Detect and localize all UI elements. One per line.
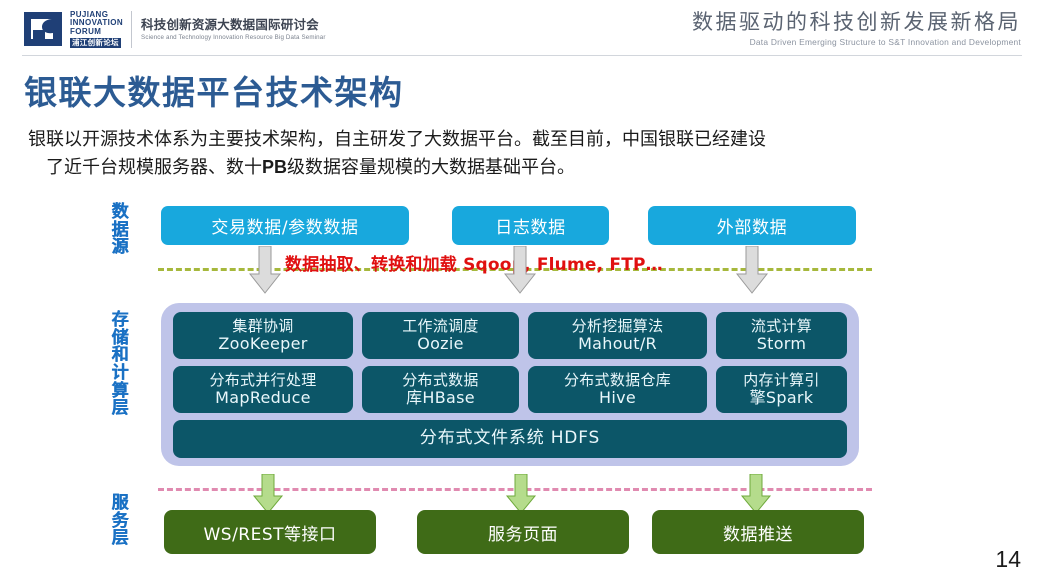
- tech-component-cn: 集群协调: [232, 318, 293, 335]
- tech-component-box[interactable]: 分布式数据仓库 Hive: [528, 366, 707, 413]
- brand-line-3: FORUM: [70, 28, 123, 36]
- service-box[interactable]: WS/REST等接口: [164, 510, 376, 554]
- tech-component-cn: 分布式数据仓库: [564, 372, 671, 389]
- tech-component-en: MapReduce: [215, 389, 311, 407]
- tech-component-en: Hive: [599, 389, 636, 407]
- tech-component-box[interactable]: 工作流调度 Oozie: [362, 312, 519, 359]
- tech-component-box[interactable]: 分析挖掘算法 Mahout/R: [528, 312, 707, 359]
- pujiang-logo-icon: [24, 12, 62, 46]
- data-source-box[interactable]: 日志数据: [452, 206, 609, 245]
- etl-annotation: 数据抽取、转换和加载 Sqoop, Flume, FTP…: [285, 250, 663, 275]
- slide-header: PUJIANG INNOVATION FORUM 浦江创新论坛 科技创新资源大数…: [0, 0, 1043, 56]
- tech-component-cn: 工作流调度: [402, 318, 479, 335]
- tech-component-box[interactable]: 流式计算 Storm: [716, 312, 847, 359]
- layer-label-storage-compute: 存储和计算层: [103, 312, 137, 418]
- page-title: 银联大数据平台技术架构: [24, 66, 404, 114]
- slide-root: PUJIANG INNOVATION FORUM 浦江创新论坛 科技创新资源大数…: [0, 0, 1043, 585]
- down-arrow-icon: [505, 474, 537, 514]
- layer-label-data-source: 数据源: [103, 204, 137, 257]
- down-arrow-icon: [735, 246, 769, 294]
- architecture-diagram: 数据源 存储和计算层 服务层 交易数据/参数数据 日志数据 外部数据 数据抽取、…: [0, 192, 1043, 560]
- paragraph-line-1: 银联以开源技术体系为主要技术架构，自主研发了大数据平台。截至目前，中国银联已经建…: [28, 129, 766, 150]
- tech-component-en: Oozie: [417, 335, 464, 353]
- tech-component-cn: 分布式数据: [402, 372, 479, 389]
- tech-component-en: ZooKeeper: [218, 335, 307, 353]
- tech-component-cn: 流式计算: [751, 318, 812, 335]
- page-number: 14: [995, 546, 1021, 573]
- forum-theme-block: 数据驱动的科技创新发展新格局 Data Driven Emerging Stru…: [692, 10, 1021, 47]
- forum-theme-cn: 数据驱动的科技创新发展新格局: [692, 10, 1021, 34]
- service-box[interactable]: 服务页面: [417, 510, 629, 554]
- tech-component-cn: 分析挖掘算法: [572, 318, 664, 335]
- seminar-title-cn: 科技创新资源大数据国际研讨会: [141, 18, 326, 32]
- tech-component-en: Storm: [757, 335, 807, 353]
- tech-component-en: 库HBase: [406, 389, 475, 407]
- tech-component-box[interactable]: 集群协调 ZooKeeper: [173, 312, 353, 359]
- down-arrow-icon: [248, 246, 282, 294]
- service-box[interactable]: 数据推送: [652, 510, 864, 554]
- tech-component-cn: 内存计算引: [743, 372, 820, 389]
- seminar-title-en: Science and Technology Innovation Resour…: [141, 34, 326, 41]
- body-paragraph: 银联以开源技术体系为主要技术架构，自主研发了大数据平台。截至目前，中国银联已经建…: [28, 126, 988, 182]
- tech-component-box[interactable]: 分布式数据 库HBase: [362, 366, 519, 413]
- brand-wordmark: PUJIANG INNOVATION FORUM 浦江创新论坛: [70, 11, 132, 48]
- brand-left: PUJIANG INNOVATION FORUM 浦江创新论坛 科技创新资源大数…: [24, 11, 326, 48]
- paragraph-line-2: 了近千台规模服务器、数十PB级数据容量规模的大数据基础平台。: [28, 154, 988, 182]
- hdfs-label: 分布式文件系统 HDFS: [420, 429, 600, 448]
- seminar-title-block: 科技创新资源大数据国际研讨会 Science and Technology In…: [141, 18, 326, 41]
- forum-theme-en: Data Driven Emerging Structure to S&T In…: [692, 37, 1021, 47]
- tech-component-box[interactable]: 内存计算引 擎Spark: [716, 366, 847, 413]
- hdfs-box[interactable]: 分布式文件系统 HDFS: [173, 420, 847, 458]
- tech-component-en: Mahout/R: [578, 335, 657, 353]
- brand-cn-badge: 浦江创新论坛: [70, 38, 121, 48]
- data-source-box[interactable]: 外部数据: [648, 206, 856, 245]
- data-source-box[interactable]: 交易数据/参数数据: [161, 206, 409, 245]
- paragraph-pb-emphasis: PB: [262, 157, 287, 177]
- paragraph-line-2-a: 了近千台规模服务器、数十: [46, 157, 262, 178]
- storage-compute-panel: 集群协调 ZooKeeper 工作流调度 Oozie 分析挖掘算法 Mahout…: [161, 303, 859, 466]
- down-arrow-icon: [503, 246, 537, 294]
- tech-component-cn: 分布式并行处理: [209, 372, 316, 389]
- tech-component-en: 擎Spark: [750, 389, 814, 407]
- tech-component-box[interactable]: 分布式并行处理 MapReduce: [173, 366, 353, 413]
- header-divider: [22, 55, 1022, 56]
- down-arrow-icon: [252, 474, 284, 514]
- paragraph-line-2-c: 级数据容量规模的大数据基础平台。: [287, 157, 575, 178]
- down-arrow-icon: [740, 474, 772, 514]
- layer-label-service: 服务层: [103, 495, 137, 548]
